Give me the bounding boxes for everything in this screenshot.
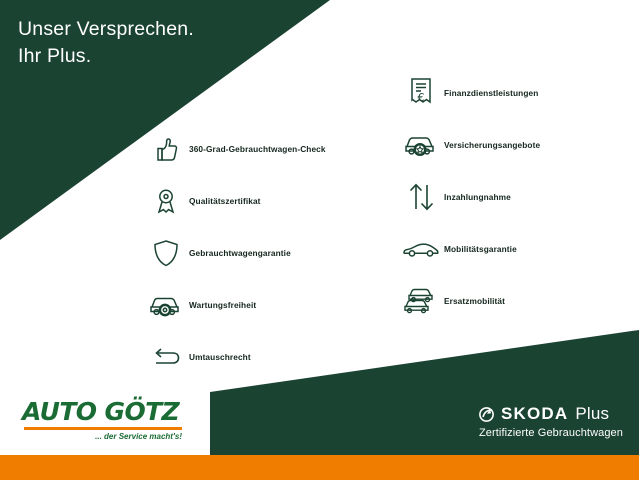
thumbs-up-icon: [143, 127, 189, 171]
promo-banner: Unser Versprechen. Ihr Plus. 360-Grad-Ge…: [0, 0, 639, 480]
shield-icon: [143, 231, 189, 275]
feature-list-right: € Finanzdienstleistungen Versicherungsan…: [398, 68, 628, 328]
dealer-accent-bar: [24, 427, 182, 430]
list-item: Mobilitätsgarantie: [398, 224, 628, 274]
list-item: Wartungsfreiheit: [143, 280, 383, 330]
list-item: Versicherungsangebote: [398, 120, 628, 170]
skoda-plus-label: Plus: [575, 404, 609, 424]
list-item-label: Finanzdienstleistungen: [444, 88, 538, 98]
invoice-euro-icon: €: [398, 71, 444, 115]
list-item: 360-Grad-Gebrauchtwagen-Check: [143, 124, 383, 174]
skoda-plus-logo: SKODA Plus Zertifizierte Gebrauchtwagen: [479, 404, 623, 439]
list-item-label: Umtauschrecht: [189, 352, 251, 362]
list-item-label: Wartungsfreiheit: [189, 300, 256, 310]
list-item: € Finanzdienstleistungen: [398, 68, 628, 118]
list-item: Inzahlungnahme: [398, 172, 628, 222]
list-item-label: Versicherungsangebote: [444, 140, 540, 150]
skoda-wordmark-row: SKODA Plus: [479, 404, 623, 424]
headline-line-2: Ihr Plus.: [18, 45, 91, 67]
car-side-icon: [398, 227, 444, 271]
return-arrow-icon: [143, 335, 189, 379]
up-down-arrows-icon: [398, 175, 444, 219]
award-rosette-icon: [143, 179, 189, 223]
skoda-wordmark: SKODA: [501, 404, 568, 424]
svg-text:€: €: [418, 91, 425, 104]
list-item: Qualitätszertifikat: [143, 176, 383, 226]
list-item: Gebrauchtwagengarantie: [143, 228, 383, 278]
list-item-label: Qualitätszertifikat: [189, 196, 261, 206]
headline-line-1: Unser Versprechen.: [18, 18, 194, 40]
car-star-icon: [398, 123, 444, 167]
list-item: Umtauschrecht: [143, 332, 383, 382]
two-cars-icon: [398, 279, 444, 323]
list-item-label: Gebrauchtwagengarantie: [189, 248, 291, 258]
feature-list-left: 360-Grad-Gebrauchtwagen-Check Qualitätsz…: [143, 124, 383, 384]
dealer-logo: AUTO GÖTZ ... der Service macht's!: [22, 398, 202, 441]
dealer-slogan: ... der Service macht's!: [24, 432, 182, 441]
skoda-subtitle: Zertifizierte Gebrauchtwagen: [479, 427, 623, 439]
page-title: Unser Versprechen. Ihr Plus.: [18, 16, 194, 70]
dealer-name: AUTO GÖTZ: [22, 398, 202, 426]
list-item: Ersatzmobilität: [398, 276, 628, 326]
list-item-label: Mobilitätsgarantie: [444, 244, 517, 254]
list-item-label: 360-Grad-Gebrauchtwagen-Check: [189, 144, 326, 154]
list-item-label: Ersatzmobilität: [444, 296, 505, 306]
skoda-arrow-icon: [479, 406, 494, 423]
list-item-label: Inzahlungnahme: [444, 192, 511, 202]
background-orange-stripe: [0, 455, 639, 480]
car-service-gear-icon: [143, 283, 189, 327]
